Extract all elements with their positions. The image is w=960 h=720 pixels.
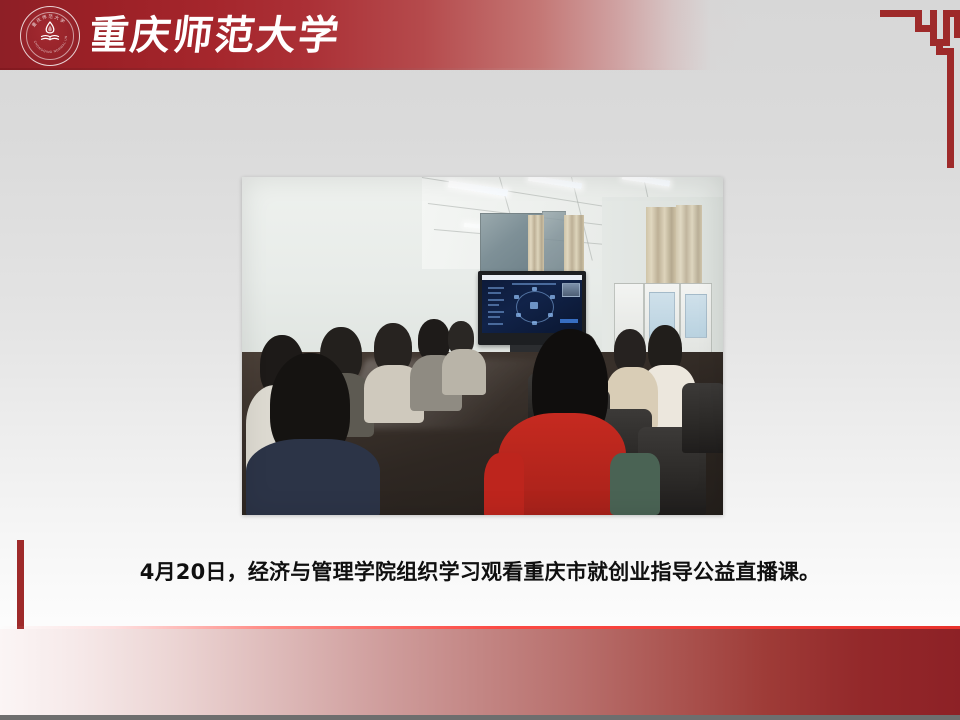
- room-window: [542, 211, 566, 275]
- display-slide-content: [482, 275, 582, 333]
- webcam-thumbnail: [562, 283, 580, 297]
- university-emblem: 重庆师范大学 CHONGQING NORMAL UNIVERSITY: [20, 6, 80, 66]
- footer-banner: [0, 629, 960, 715]
- content-photo: [242, 177, 723, 515]
- photo-scene: [242, 177, 723, 515]
- photo-caption: 4月20日，经济与管理学院组织学习观看重庆市就创业指导公益直播课。: [0, 556, 960, 586]
- office-chair: [682, 383, 723, 453]
- university-name: 重庆师范大学: [92, 4, 352, 64]
- emblem-flame-book-icon: [37, 19, 63, 45]
- slide-bottom-edge: [0, 715, 960, 720]
- chinese-knot-corner-top-right: [880, 8, 960, 168]
- university-name-glyphs: 重庆师范大学: [92, 13, 343, 59]
- presentation-slide: 重庆师范大学 CHONGQING NORMAL UNIVERSITY 重庆师范大…: [0, 0, 960, 720]
